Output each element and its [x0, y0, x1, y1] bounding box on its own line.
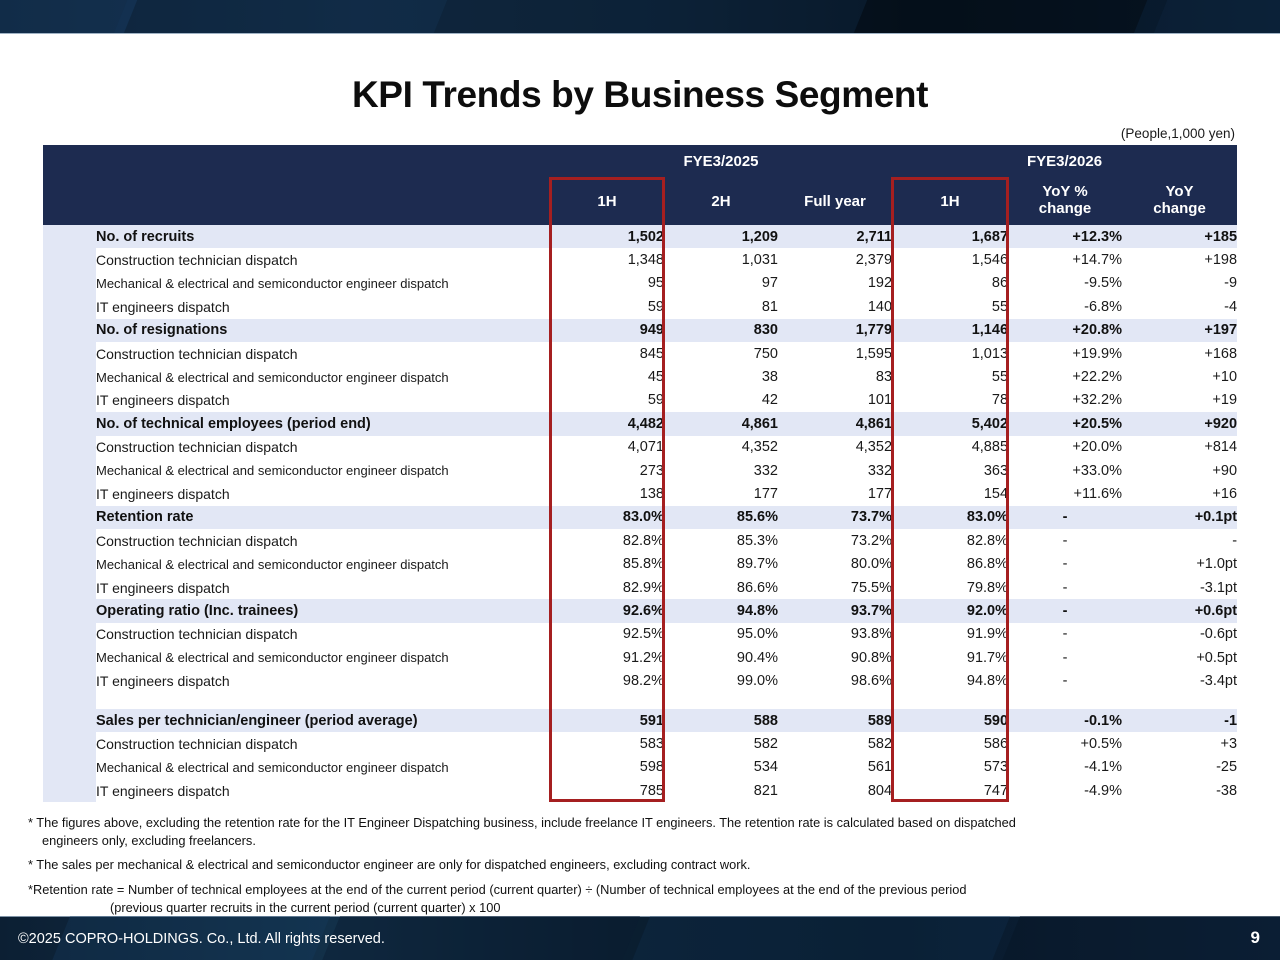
group-label: Sales per technician/engineer (period av… — [96, 709, 550, 732]
row-value: 38 — [664, 365, 778, 388]
group-value: +0.1pt — [1122, 506, 1237, 529]
spacer-cell — [1008, 693, 1122, 709]
group-value: 591 — [550, 709, 664, 732]
row-value: 140 — [778, 295, 892, 318]
row-value: 91.2% — [550, 646, 664, 669]
spacer-cell — [892, 693, 1008, 709]
row-index-cell — [43, 412, 96, 435]
row-value: 747 — [892, 779, 1008, 802]
col-header-yoy-pct-change[interactable]: YoY % change — [1008, 177, 1122, 225]
row-value: 81 — [664, 295, 778, 318]
row-value: 90.8% — [778, 646, 892, 669]
row-value: +14.7% — [1008, 248, 1122, 271]
group-value: 589 — [778, 709, 892, 732]
row-value: 1,348 — [550, 248, 664, 271]
corner-blank-cell-2 — [43, 177, 96, 225]
row-value: 80.0% — [778, 552, 892, 575]
row-value: +19.9% — [1008, 342, 1122, 365]
group-value: 94.8% — [664, 599, 778, 622]
row-value: - — [1008, 623, 1122, 646]
group-value: - — [1008, 599, 1122, 622]
row-value: -4 — [1122, 295, 1237, 318]
row-label: Mechanical & electrical and semiconducto… — [96, 272, 550, 295]
group-label: Operating ratio (Inc. trainees) — [96, 599, 550, 622]
row-value: 55 — [892, 295, 1008, 318]
table-row[interactable]: Construction technician dispatch1,3481,0… — [43, 248, 1237, 271]
row-value: 534 — [664, 756, 778, 779]
table-row[interactable]: IT engineers dispatch138177177154+11.6%+… — [43, 482, 1237, 505]
group-header-fye2025: FYE3/2025 — [550, 145, 892, 177]
row-value: -25 — [1122, 756, 1237, 779]
table-row[interactable]: Construction technician dispatch82.8%85.… — [43, 529, 1237, 552]
row-value: 42 — [664, 389, 778, 412]
group-value: +12.3% — [1008, 225, 1122, 248]
footnote-3-line1: *Retention rate = Number of technical em… — [28, 882, 967, 897]
row-value: +3 — [1122, 732, 1237, 755]
group-value: 4,482 — [550, 412, 664, 435]
group-value: 5,402 — [892, 412, 1008, 435]
group-value: +20.8% — [1008, 319, 1122, 342]
row-value: -0.6pt — [1122, 623, 1237, 646]
row-value: +10 — [1122, 365, 1237, 388]
row-value: 154 — [892, 482, 1008, 505]
table-row-group[interactable]: No. of technical employees (period end)4… — [43, 412, 1237, 435]
row-value: 91.9% — [892, 623, 1008, 646]
row-label: IT engineers dispatch — [96, 669, 550, 692]
table-row[interactable]: Mechanical & electrical and semiconducto… — [43, 272, 1237, 295]
row-value: 583 — [550, 732, 664, 755]
footnote-2: * The sales per mechanical & electrical … — [28, 856, 1253, 874]
kpi-table: FYE3/2025 FYE3/2026 1H 2H Full year 1H Y… — [43, 145, 1237, 802]
group-value: 83.0% — [550, 506, 664, 529]
row-value: 332 — [664, 459, 778, 482]
group-header-fye2026: FYE3/2026 — [892, 145, 1237, 177]
footnote-2-line1: * The sales per mechanical & electrical … — [28, 857, 750, 872]
row-value: - — [1008, 576, 1122, 599]
row-value: 59 — [550, 295, 664, 318]
row-value: +90 — [1122, 459, 1237, 482]
row-value: 785 — [550, 779, 664, 802]
col-header-yoy-pct-change-line1: YoY % — [1042, 183, 1087, 200]
footnote-3: *Retention rate = Number of technical em… — [28, 881, 1253, 916]
footnote-1-line1: * The figures above, excluding the reten… — [28, 815, 1016, 830]
row-index-cell — [43, 506, 96, 529]
top-banner — [0, 0, 1280, 34]
row-index-cell — [43, 576, 96, 599]
row-label: Construction technician dispatch — [96, 342, 550, 365]
row-value: 83 — [778, 365, 892, 388]
table-row[interactable]: Construction technician dispatch58358258… — [43, 732, 1237, 755]
row-value: 1,031 — [664, 248, 778, 271]
footnotes: * The figures above, excluding the reten… — [28, 814, 1253, 923]
row-value: 4,352 — [664, 436, 778, 459]
row-value: 4,352 — [778, 436, 892, 459]
row-index-cell — [43, 295, 96, 318]
row-label: Mechanical & electrical and semiconducto… — [96, 756, 550, 779]
group-value: 2,711 — [778, 225, 892, 248]
group-value: +185 — [1122, 225, 1237, 248]
row-index-cell — [43, 709, 96, 732]
corner-blank-cell — [96, 145, 550, 177]
group-value: +920 — [1122, 412, 1237, 435]
kpi-table-head: FYE3/2025 FYE3/2026 1H 2H Full year 1H Y… — [43, 145, 1237, 225]
table-row[interactable]: Mechanical & electrical and semiconducto… — [43, 459, 1237, 482]
group-value: 92.6% — [550, 599, 664, 622]
table-row[interactable]: Construction technician dispatch4,0714,3… — [43, 436, 1237, 459]
row-value: +19 — [1122, 389, 1237, 412]
banner-hairline — [0, 33, 1280, 34]
row-label: IT engineers dispatch — [96, 295, 550, 318]
table-group-header-row: FYE3/2025 FYE3/2026 — [43, 145, 1237, 177]
table-row[interactable]: Mechanical & electrical and semiconducto… — [43, 646, 1237, 669]
table-row[interactable]: IT engineers dispatch98.2%99.0%98.6%94.8… — [43, 669, 1237, 692]
table-row-group[interactable]: No. of recruits1,5021,2092,7111,687+12.3… — [43, 225, 1237, 248]
group-value: 93.7% — [778, 599, 892, 622]
table-row-group[interactable]: Operating ratio (Inc. trainees)92.6%94.8… — [43, 599, 1237, 622]
group-value: 1,209 — [664, 225, 778, 248]
row-label: IT engineers dispatch — [96, 482, 550, 505]
row-value: 93.8% — [778, 623, 892, 646]
row-value: 98.2% — [550, 669, 664, 692]
row-index-cell — [43, 272, 96, 295]
corner-blank-cell-2 — [96, 177, 550, 225]
row-value: -4.9% — [1008, 779, 1122, 802]
row-value: 4,885 — [892, 436, 1008, 459]
row-value: -3.4pt — [1122, 669, 1237, 692]
row-label: Mechanical & electrical and semiconducto… — [96, 646, 550, 669]
row-value: - — [1008, 669, 1122, 692]
row-index-cell — [43, 552, 96, 575]
row-index-cell — [43, 225, 96, 248]
row-value: 79.8% — [892, 576, 1008, 599]
row-value: 95 — [550, 272, 664, 295]
row-value: - — [1008, 646, 1122, 669]
group-value: 590 — [892, 709, 1008, 732]
corner-blank-cell — [43, 145, 96, 177]
col-header-yoy-change[interactable]: YoY change — [1122, 177, 1237, 225]
row-value: -3.1pt — [1122, 576, 1237, 599]
row-value: 86.8% — [892, 552, 1008, 575]
group-value: 1,687 — [892, 225, 1008, 248]
row-value: 273 — [550, 459, 664, 482]
row-index-cell — [43, 482, 96, 505]
group-value: 588 — [664, 709, 778, 732]
row-value: +168 — [1122, 342, 1237, 365]
row-value: 750 — [664, 342, 778, 365]
row-value: 573 — [892, 756, 1008, 779]
footnote-3-line2: (previous quarter recruits in the curren… — [28, 899, 1253, 917]
row-value: 82.8% — [550, 529, 664, 552]
banner-shard — [1128, 0, 1280, 34]
group-value: +20.5% — [1008, 412, 1122, 435]
group-value: -0.1% — [1008, 709, 1122, 732]
row-value: +22.2% — [1008, 365, 1122, 388]
row-value: 4,071 — [550, 436, 664, 459]
spacer-cell — [778, 693, 892, 709]
row-value: 73.2% — [778, 529, 892, 552]
row-label: IT engineers dispatch — [96, 389, 550, 412]
col-header-fy25-full-year[interactable]: Full year — [778, 177, 892, 225]
row-value: 1,546 — [892, 248, 1008, 271]
row-label: Mechanical & electrical and semiconducto… — [96, 365, 550, 388]
row-value: -9.5% — [1008, 272, 1122, 295]
row-value: 45 — [550, 365, 664, 388]
row-value: 91.7% — [892, 646, 1008, 669]
col-header-yoy-pct-change-line2: change — [1039, 200, 1092, 217]
table-row[interactable]: IT engineers dispatch594210178+32.2%+19 — [43, 389, 1237, 412]
row-index-cell — [43, 529, 96, 552]
row-index-cell — [43, 646, 96, 669]
group-value: +197 — [1122, 319, 1237, 342]
row-value: 177 — [778, 482, 892, 505]
row-value: 582 — [778, 732, 892, 755]
row-value: 99.0% — [664, 669, 778, 692]
spacer-cell — [96, 693, 550, 709]
footer-shard — [626, 916, 1014, 960]
row-label: Construction technician dispatch — [96, 436, 550, 459]
row-value: 92.5% — [550, 623, 664, 646]
group-value: 73.7% — [778, 506, 892, 529]
row-value: 586 — [892, 732, 1008, 755]
col-header-yoy-change-line1: YoY — [1165, 183, 1193, 200]
kpi-table-body: No. of recruits1,5021,2092,7111,687+12.3… — [43, 225, 1237, 802]
group-value: 4,861 — [664, 412, 778, 435]
table-row-group[interactable]: No. of resignations9498301,7791,146+20.8… — [43, 319, 1237, 342]
row-value: 101 — [778, 389, 892, 412]
row-index-cell — [43, 365, 96, 388]
table-row-group[interactable]: Retention rate83.0%85.6%73.7%83.0%-+0.1p… — [43, 506, 1237, 529]
row-value: 59 — [550, 389, 664, 412]
row-value: - — [1008, 529, 1122, 552]
row-label: Construction technician dispatch — [96, 529, 550, 552]
row-value: 821 — [664, 779, 778, 802]
col-header-fy26-1h[interactable]: 1H — [892, 177, 1008, 225]
table-row[interactable]: IT engineers dispatch82.9%86.6%75.5%79.8… — [43, 576, 1237, 599]
row-value: +20.0% — [1008, 436, 1122, 459]
row-index-cell — [43, 756, 96, 779]
row-value: 1,595 — [778, 342, 892, 365]
row-label: Construction technician dispatch — [96, 248, 550, 271]
table-row[interactable]: Mechanical & electrical and semiconducto… — [43, 756, 1237, 779]
row-label: Mechanical & electrical and semiconducto… — [96, 552, 550, 575]
table-row[interactable]: Mechanical & electrical and semiconducto… — [43, 552, 1237, 575]
group-value: 949 — [550, 319, 664, 342]
col-header-fy25-2h[interactable]: 2H — [664, 177, 778, 225]
spacer-cell — [43, 693, 96, 709]
group-label: No. of resignations — [96, 319, 550, 342]
row-value: +16 — [1122, 482, 1237, 505]
row-label: Construction technician dispatch — [96, 623, 550, 646]
row-value: -6.8% — [1008, 295, 1122, 318]
spacer-cell — [1122, 693, 1237, 709]
row-value: 177 — [664, 482, 778, 505]
row-value: 86.6% — [664, 576, 778, 599]
row-value: +11.6% — [1008, 482, 1122, 505]
row-index-cell — [43, 319, 96, 342]
group-value: 92.0% — [892, 599, 1008, 622]
table-row[interactable]: IT engineers dispatch785821804747-4.9%-3… — [43, 779, 1237, 802]
spacer-cell — [664, 693, 778, 709]
row-value: 90.4% — [664, 646, 778, 669]
row-value: 582 — [664, 732, 778, 755]
row-value: 55 — [892, 365, 1008, 388]
group-value: 85.6% — [664, 506, 778, 529]
row-value: 363 — [892, 459, 1008, 482]
row-label: Construction technician dispatch — [96, 732, 550, 755]
row-index-cell — [43, 436, 96, 459]
row-value: 332 — [778, 459, 892, 482]
col-header-yoy-change-line2: change — [1153, 200, 1206, 217]
row-index-cell — [43, 248, 96, 271]
row-index-cell — [43, 389, 96, 412]
col-header-fy25-1h[interactable]: 1H — [550, 177, 664, 225]
page-title: KPI Trends by Business Segment — [0, 74, 1280, 116]
footnote-1-line2: engineers only, excluding freelancers. — [28, 832, 1253, 850]
row-value: 85.8% — [550, 552, 664, 575]
row-value: 85.3% — [664, 529, 778, 552]
row-value: 1,013 — [892, 342, 1008, 365]
row-value: +33.0% — [1008, 459, 1122, 482]
group-value: 1,502 — [550, 225, 664, 248]
group-value: 830 — [664, 319, 778, 342]
row-value: 89.7% — [664, 552, 778, 575]
row-value: 82.9% — [550, 576, 664, 599]
row-value: +32.2% — [1008, 389, 1122, 412]
row-value: 561 — [778, 756, 892, 779]
row-value: +814 — [1122, 436, 1237, 459]
table-row[interactable]: IT engineers dispatch598114055-6.8%-4 — [43, 295, 1237, 318]
unit-note: (People,1,000 yen) — [1121, 126, 1235, 141]
row-value: +198 — [1122, 248, 1237, 271]
row-value: 94.8% — [892, 669, 1008, 692]
row-value: 86 — [892, 272, 1008, 295]
row-value: 845 — [550, 342, 664, 365]
group-value: -1 — [1122, 709, 1237, 732]
row-label: Mechanical & electrical and semiconducto… — [96, 459, 550, 482]
row-value: - — [1122, 529, 1237, 552]
row-value: +0.5% — [1008, 732, 1122, 755]
row-value: 97 — [664, 272, 778, 295]
row-value: 804 — [778, 779, 892, 802]
row-value: -38 — [1122, 779, 1237, 802]
page-number: 9 — [1251, 928, 1260, 948]
banner-shard — [848, 0, 1172, 34]
row-value: 95.0% — [664, 623, 778, 646]
spacer-cell — [550, 693, 664, 709]
row-index-cell — [43, 669, 96, 692]
banner-shard — [108, 0, 452, 34]
group-label: Retention rate — [96, 506, 550, 529]
group-value: 4,861 — [778, 412, 892, 435]
row-label: IT engineers dispatch — [96, 779, 550, 802]
row-value: 2,379 — [778, 248, 892, 271]
table-row[interactable]: Mechanical & electrical and semiconducto… — [43, 365, 1237, 388]
slide-root: KPI Trends by Business Segment (People,1… — [0, 0, 1280, 960]
row-value: 192 — [778, 272, 892, 295]
table-spacer-row — [43, 693, 1237, 709]
row-value: - — [1008, 552, 1122, 575]
row-index-cell — [43, 599, 96, 622]
row-index-cell — [43, 623, 96, 646]
table-column-header-row: 1H 2H Full year 1H YoY % change YoY chan… — [43, 177, 1237, 225]
row-value: +1.0pt — [1122, 552, 1237, 575]
row-index-cell — [43, 779, 96, 802]
row-label: IT engineers dispatch — [96, 576, 550, 599]
row-value: 98.6% — [778, 669, 892, 692]
table-row[interactable]: Construction technician dispatch92.5%95.… — [43, 623, 1237, 646]
row-value: 138 — [550, 482, 664, 505]
row-value: 82.8% — [892, 529, 1008, 552]
row-index-cell — [43, 342, 96, 365]
row-index-cell — [43, 732, 96, 755]
footer-shard — [996, 916, 1280, 960]
row-value: -9 — [1122, 272, 1237, 295]
footnote-1: * The figures above, excluding the reten… — [28, 814, 1253, 849]
group-value: - — [1008, 506, 1122, 529]
row-index-cell — [43, 459, 96, 482]
row-value: -4.1% — [1008, 756, 1122, 779]
banner-shard — [428, 0, 872, 34]
group-label: No. of technical employees (period end) — [96, 412, 550, 435]
row-value: 78 — [892, 389, 1008, 412]
table-row[interactable]: Construction technician dispatch8457501,… — [43, 342, 1237, 365]
group-label: No. of recruits — [96, 225, 550, 248]
table-row-group[interactable]: Sales per technician/engineer (period av… — [43, 709, 1237, 732]
group-value: 1,779 — [778, 319, 892, 342]
group-value: 83.0% — [892, 506, 1008, 529]
row-value: 75.5% — [778, 576, 892, 599]
group-value: +0.6pt — [1122, 599, 1237, 622]
group-value: 1,146 — [892, 319, 1008, 342]
row-value: 598 — [550, 756, 664, 779]
row-value: +0.5pt — [1122, 646, 1237, 669]
copyright-text: ©2025 COPRO-HOLDINGS. Co., Ltd. All righ… — [18, 931, 385, 947]
